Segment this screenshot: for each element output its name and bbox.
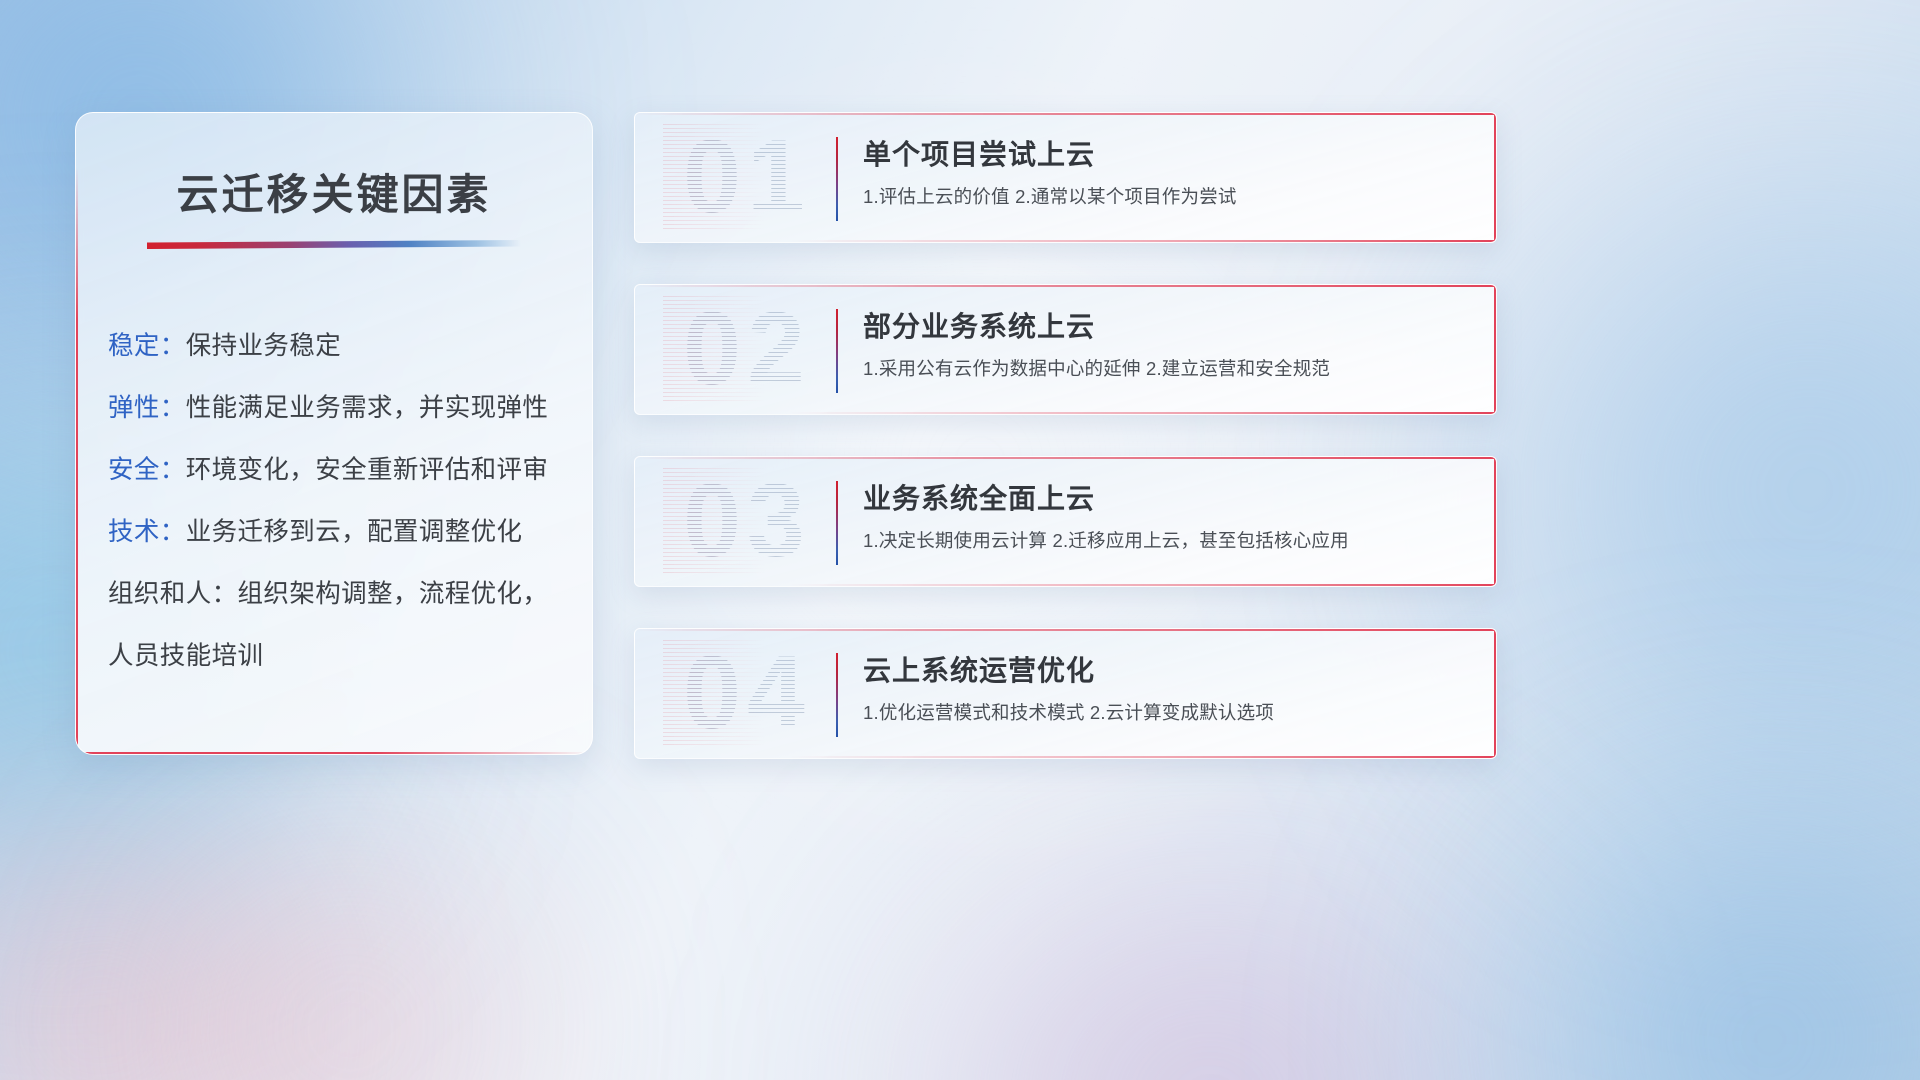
card-divider-line <box>836 653 838 737</box>
card-bottom-accent <box>635 756 1496 758</box>
card-right-accent <box>1494 457 1496 586</box>
panel-bottom-accent-line <box>76 752 592 754</box>
stage-title: 云上系统运营优化 <box>863 651 1472 691</box>
panel-left-accent-line <box>76 167 78 754</box>
card-body: 云上系统运营优化 1.优化运营模式和技术模式 2.云计算变成默认选项 <box>863 651 1472 727</box>
card-bottom-accent <box>635 584 1496 586</box>
title-underline-gradient <box>147 240 521 249</box>
factor-text: 人员技能培训 <box>108 642 263 670</box>
factor-label: 组织和人： <box>108 580 238 608</box>
stage-title: 业务系统全面上云 <box>863 479 1472 519</box>
card-bottom-accent <box>635 240 1496 242</box>
stage-number: 02 <box>663 296 831 404</box>
stage-description: 1.优化运营模式和技术模式 2.云计算变成默认选项 <box>863 699 1472 727</box>
factor-text: 业务迁移到云，配置调整优化 <box>186 518 523 546</box>
cloud-migration-stages: 01 单个项目尝试上云 1.评估上云的价值 2.通常以某个项目作为尝试 02 部… <box>634 112 1497 800</box>
card-bottom-accent <box>635 412 1496 414</box>
list-item: 人员技能培训 <box>108 625 592 687</box>
factor-label: 技术： <box>108 518 186 546</box>
card-top-accent <box>635 629 1496 631</box>
card-body: 部分业务系统上云 1.采用公有云作为数据中心的延伸 2.建立运营和安全规范 <box>863 307 1472 383</box>
stage-number: 01 <box>663 124 831 232</box>
factor-text: 性能满足业务需求，并实现弹性 <box>186 394 549 422</box>
stage-title: 部分业务系统上云 <box>863 307 1472 347</box>
stage-description: 1.决定长期使用云计算 2.迁移应用上云，甚至包括核心应用 <box>863 527 1472 555</box>
stage-card-01[interactable]: 01 单个项目尝试上云 1.评估上云的价值 2.通常以某个项目作为尝试 <box>634 112 1497 243</box>
stage-card-02[interactable]: 02 部分业务系统上云 1.采用公有云作为数据中心的延伸 2.建立运营和安全规范 <box>634 284 1497 415</box>
list-item: 组织和人：组织架构调整，流程优化， <box>108 563 592 625</box>
factor-label: 安全： <box>108 456 186 484</box>
list-item: 安全：环境变化，安全重新评估和评审 <box>108 439 592 501</box>
key-factors-panel: 云迁移关键因素 稳定：保持业务稳定 弹性：性能满足业务需求，并实现弹性 安全：环… <box>75 112 593 755</box>
factor-text: 保持业务稳定 <box>186 332 341 360</box>
card-divider-line <box>836 309 838 393</box>
stage-description: 1.评估上云的价值 2.通常以某个项目作为尝试 <box>863 183 1472 211</box>
factor-text: 组织架构调整，流程优化， <box>238 580 549 608</box>
card-top-accent <box>635 457 1496 459</box>
card-right-accent <box>1494 629 1496 758</box>
stage-title: 单个项目尝试上云 <box>863 135 1472 175</box>
stage-card-04[interactable]: 04 云上系统运营优化 1.优化运营模式和技术模式 2.云计算变成默认选项 <box>634 628 1497 759</box>
stage-number: 04 <box>663 640 831 748</box>
factor-text: 环境变化，安全重新评估和评审 <box>186 456 549 484</box>
list-item: 技术：业务迁移到云，配置调整优化 <box>108 501 592 563</box>
list-item: 弹性：性能满足业务需求，并实现弹性 <box>108 377 592 439</box>
card-right-accent <box>1494 113 1496 242</box>
card-body: 单个项目尝试上云 1.评估上云的价值 2.通常以某个项目作为尝试 <box>863 135 1472 211</box>
stage-card-03[interactable]: 03 业务系统全面上云 1.决定长期使用云计算 2.迁移应用上云，甚至包括核心应… <box>634 456 1497 587</box>
card-body: 业务系统全面上云 1.决定长期使用云计算 2.迁移应用上云，甚至包括核心应用 <box>863 479 1472 555</box>
key-factors-list: 稳定：保持业务稳定 弹性：性能满足业务需求，并实现弹性 安全：环境变化，安全重新… <box>108 315 592 687</box>
card-divider-line <box>836 481 838 565</box>
factor-label: 弹性： <box>108 394 186 422</box>
card-top-accent <box>635 113 1496 115</box>
list-item: 稳定：保持业务稳定 <box>108 315 592 377</box>
stage-description: 1.采用公有云作为数据中心的延伸 2.建立运营和安全规范 <box>863 355 1472 383</box>
factor-label: 稳定： <box>108 332 186 360</box>
card-right-accent <box>1494 285 1496 414</box>
page-title: 云迁移关键因素 <box>76 161 592 222</box>
card-top-accent <box>635 285 1496 287</box>
stage-number: 03 <box>663 468 831 576</box>
card-divider-line <box>836 137 838 221</box>
